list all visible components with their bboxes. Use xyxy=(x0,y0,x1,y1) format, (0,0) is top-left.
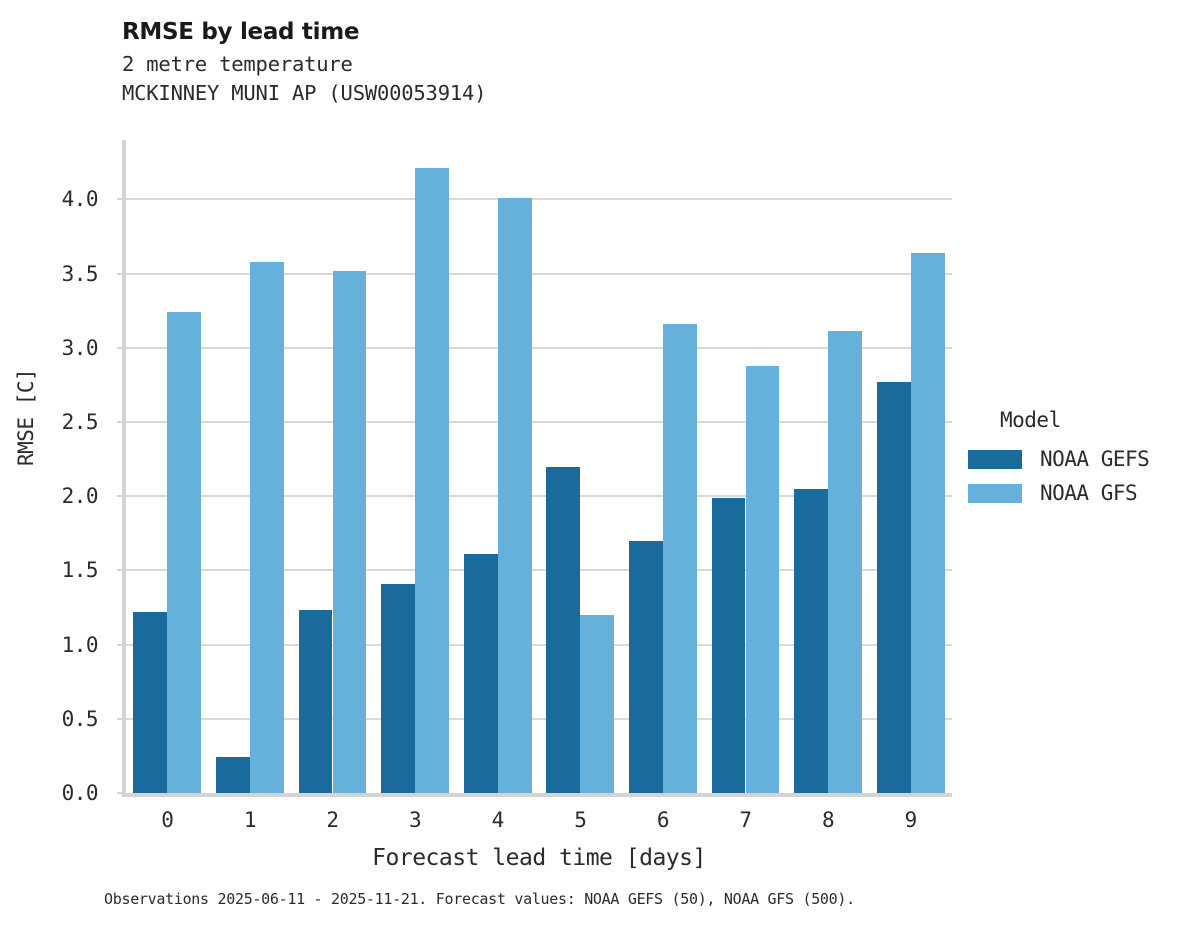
y-axis-labels: 0.00.51.01.52.02.53.03.54.0 xyxy=(0,140,112,793)
y-axis-tick-label: 1.0 xyxy=(62,633,98,657)
y-axis-tick xyxy=(117,347,126,349)
chart-subtitle-variable: 2 metre temperature xyxy=(122,50,1002,79)
y-axis-tick-label: 3.0 xyxy=(62,336,98,360)
x-axis-tick-label: 0 xyxy=(161,808,173,832)
bar xyxy=(877,382,911,793)
x-axis-tick-label: 8 xyxy=(822,808,834,832)
legend-item[interactable]: NOAA GFS xyxy=(968,478,1182,508)
chart-subtitle-block: 2 metre temperature MCKINNEY MUNI AP (US… xyxy=(122,50,1002,108)
bar xyxy=(663,324,697,793)
y-axis-tick-label: 1.5 xyxy=(62,558,98,582)
legend-item-label: NOAA GEFS xyxy=(1040,447,1149,471)
bar xyxy=(498,198,532,793)
y-axis-title: RMSE [C] xyxy=(14,369,38,466)
chart-footnote: Observations 2025-06-11 - 2025-11-21. Fo… xyxy=(104,890,1104,908)
bar xyxy=(250,262,284,793)
legend-title: Model xyxy=(1000,408,1182,432)
y-axis-tick-label: 4.0 xyxy=(62,187,98,211)
y-axis-tick-label: 2.5 xyxy=(62,410,98,434)
bar xyxy=(167,312,201,793)
bar xyxy=(546,467,580,794)
bar xyxy=(299,610,333,793)
x-axis-tick-label: 4 xyxy=(492,808,504,832)
y-axis-tick xyxy=(117,421,126,423)
bar xyxy=(712,498,746,793)
legend-swatch-icon xyxy=(968,450,1022,469)
bar xyxy=(794,489,828,793)
x-axis-tick-label: 2 xyxy=(326,808,338,832)
bar xyxy=(133,612,167,793)
plot-area xyxy=(122,140,952,793)
y-axis-tick xyxy=(117,644,126,646)
bars-layer xyxy=(126,140,952,793)
page-title: RMSE by lead time xyxy=(122,18,1002,46)
legend-swatch-icon xyxy=(968,484,1022,503)
legend-item-label: NOAA GFS xyxy=(1040,481,1137,505)
x-axis-tick-label: 1 xyxy=(244,808,256,832)
x-axis-tick-label: 5 xyxy=(574,808,586,832)
y-axis-tick-label: 3.5 xyxy=(62,262,98,286)
bar xyxy=(580,615,614,793)
y-axis-tick xyxy=(117,495,126,497)
bar xyxy=(415,168,449,793)
x-axis-tick-label: 3 xyxy=(409,808,421,832)
y-axis-tick xyxy=(117,198,126,200)
bar xyxy=(911,253,945,793)
x-axis-tick-label: 6 xyxy=(657,808,669,832)
y-axis-tick-label: 0.5 xyxy=(62,707,98,731)
legend-entries: NOAA GEFSNOAA GFS xyxy=(968,444,1182,508)
y-axis-tick-label: 0.0 xyxy=(62,781,98,805)
y-axis-tick-label: 2.0 xyxy=(62,484,98,508)
chart-header: RMSE by lead time 2 metre temperature MC… xyxy=(122,18,1002,108)
y-axis-tick xyxy=(117,569,126,571)
bar xyxy=(381,584,415,793)
legend-item[interactable]: NOAA GEFS xyxy=(968,444,1182,474)
y-axis-tick xyxy=(117,792,126,794)
y-axis-tick xyxy=(117,273,126,275)
bar xyxy=(828,331,862,793)
legend: Model NOAA GEFSNOAA GFS xyxy=(968,408,1182,512)
bar xyxy=(746,366,780,793)
x-axis-title: Forecast lead time [days] xyxy=(126,845,952,871)
bar xyxy=(464,554,498,793)
bar xyxy=(629,541,663,793)
x-axis-spine xyxy=(122,793,952,797)
x-axis-labels: 0123456789 xyxy=(126,808,952,838)
chart-subtitle-station: MCKINNEY MUNI AP (USW00053914) xyxy=(122,79,1002,108)
bar xyxy=(216,757,250,793)
y-axis-tick xyxy=(117,718,126,720)
bar xyxy=(333,271,367,793)
x-axis-tick-label: 9 xyxy=(905,808,917,832)
x-axis-tick-label: 7 xyxy=(739,808,751,832)
